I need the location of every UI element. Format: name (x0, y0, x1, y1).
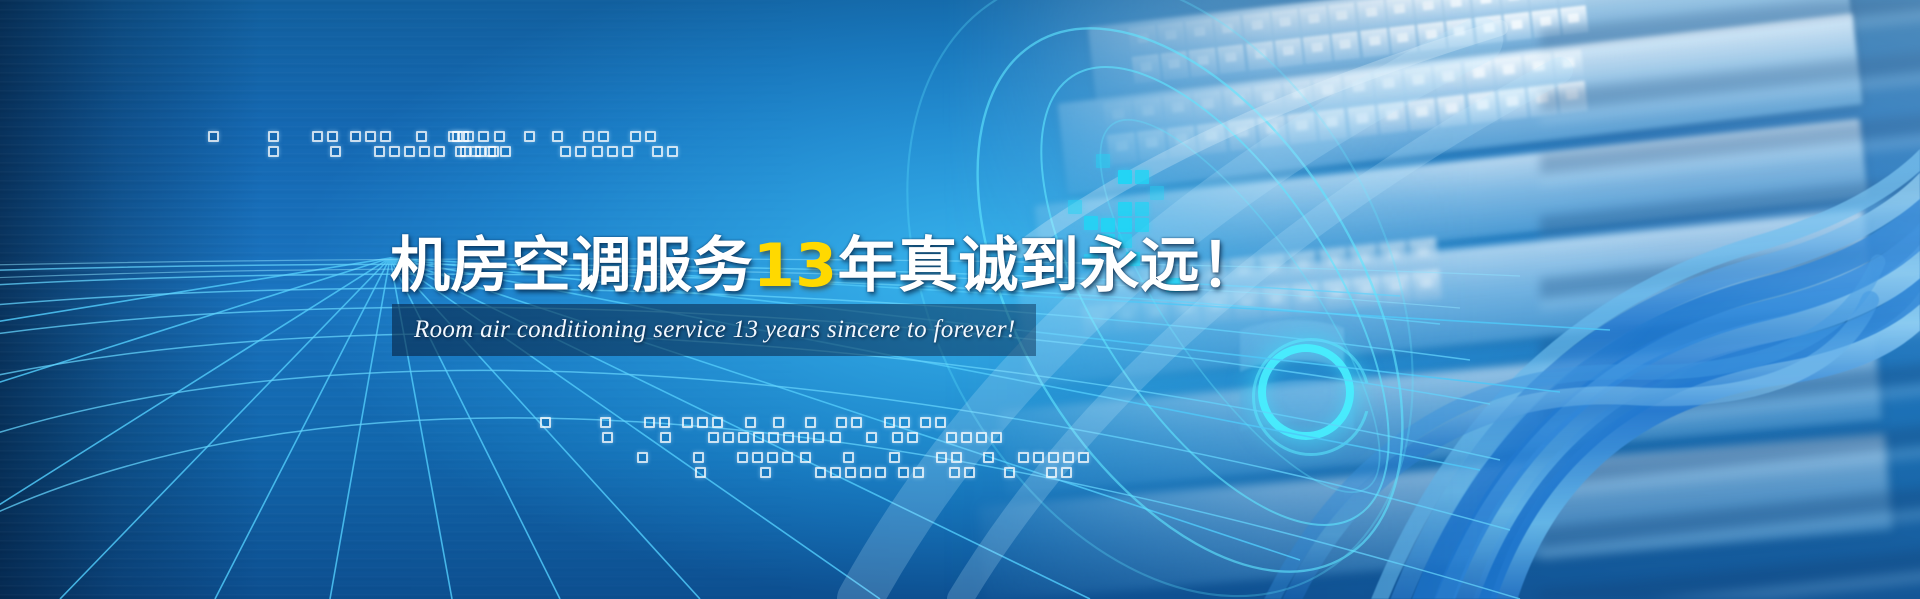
decor-square (935, 417, 946, 428)
decor-square (1063, 452, 1074, 463)
decor-square (913, 467, 924, 478)
mosaic-square (1084, 216, 1098, 230)
decor-square (843, 452, 854, 463)
decor-square (752, 452, 763, 463)
decor-square (889, 452, 900, 463)
decor-square (830, 467, 841, 478)
mosaic-square (1150, 186, 1164, 200)
decor-square (800, 452, 811, 463)
decor-square (875, 467, 886, 478)
decor-square (660, 432, 671, 443)
decor-square (1046, 467, 1057, 478)
mosaic-square (1118, 170, 1132, 184)
mosaic-square (1101, 218, 1115, 232)
decor-square (760, 467, 771, 478)
headline-number: 13 (753, 231, 838, 301)
decor-square (951, 452, 962, 463)
decor-square (946, 432, 957, 443)
subtitle: Room air conditioning service 13 years s… (414, 304, 1024, 356)
decor-square (976, 432, 987, 443)
decor-square (836, 417, 847, 428)
decor-square (1018, 452, 1029, 463)
mosaic-square (1068, 200, 1082, 214)
mosaic-square (1096, 154, 1110, 168)
headline-suffix: 年真诚到永远！ (838, 231, 1262, 301)
decor-square (768, 432, 779, 443)
decor-square (907, 432, 918, 443)
decor-square (767, 452, 778, 463)
decor-square (815, 467, 826, 478)
decor-square (936, 452, 947, 463)
decor-square (851, 417, 862, 428)
decor-square (860, 467, 871, 478)
decor-square (949, 467, 960, 478)
decor-square (782, 452, 793, 463)
decor-square (737, 452, 748, 463)
decor-square (1078, 452, 1089, 463)
decor-square (682, 417, 693, 428)
decor-square (830, 432, 841, 443)
decor-square (866, 432, 877, 443)
mosaic-square (1135, 218, 1149, 232)
decor-square (884, 417, 895, 428)
decor-square (783, 432, 794, 443)
page-title: 机房空调服务13年真诚到永远！ (390, 236, 1261, 296)
decor-square (983, 452, 994, 463)
decor-square (805, 417, 816, 428)
decor-square (708, 432, 719, 443)
decor-square (695, 467, 706, 478)
decor-square (1033, 452, 1044, 463)
decor-square (637, 452, 648, 463)
mosaic-square (1135, 202, 1149, 216)
decor-square (540, 417, 551, 428)
decor-square (723, 432, 734, 443)
decor-square (991, 432, 1002, 443)
decor-square (1004, 467, 1015, 478)
decor-square (813, 432, 824, 443)
decor-square (745, 417, 756, 428)
decor-square (712, 417, 723, 428)
decor-square (644, 417, 655, 428)
decor-square (798, 432, 809, 443)
decor-square (1061, 467, 1072, 478)
decor-square (892, 432, 903, 443)
decor-square (961, 432, 972, 443)
decor-square (1048, 452, 1059, 463)
decor-square (899, 417, 910, 428)
decor-square (920, 417, 931, 428)
mosaic-square (1118, 218, 1132, 232)
decor-square (600, 417, 611, 428)
decor-square (659, 417, 670, 428)
decor-square (845, 467, 856, 478)
mosaic-square (1135, 170, 1149, 184)
decor-square (964, 467, 975, 478)
hero-banner: 机房空调服务13年真诚到永远！ Room air conditioning se… (0, 0, 1920, 599)
mosaic-square (1118, 202, 1132, 216)
decor-square (738, 432, 749, 443)
decor-square (773, 417, 784, 428)
headline-prefix: 机房空调服务 (390, 231, 753, 301)
decor-square (602, 432, 613, 443)
decor-square (753, 432, 764, 443)
decor-square (697, 417, 708, 428)
decor-square (898, 467, 909, 478)
decor-square (693, 452, 704, 463)
